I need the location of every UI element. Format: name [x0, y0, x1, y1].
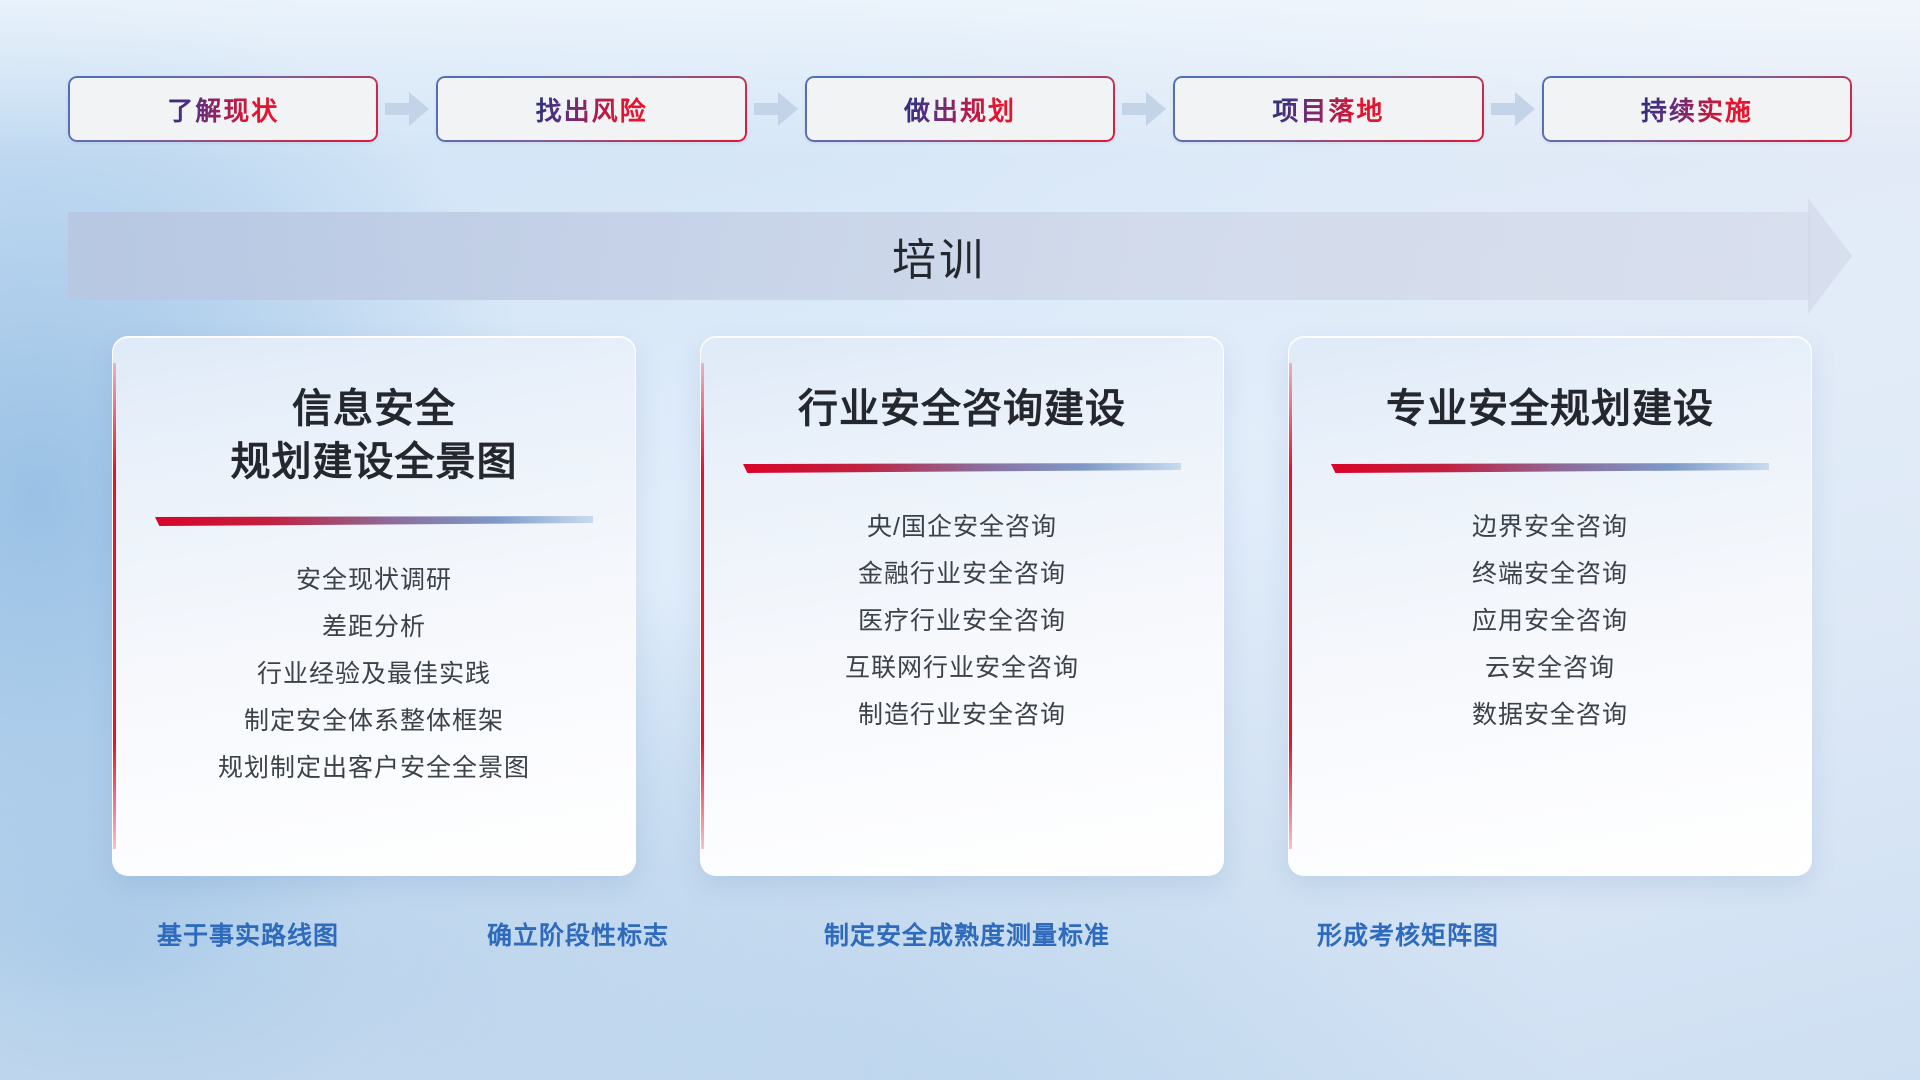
- step-label: 找出风险: [536, 91, 648, 128]
- card-item-list: 安全现状调研 差距分析 行业经验及最佳实践 制定安全体系整体框架 规划制定出客户…: [113, 557, 635, 792]
- arrow-right-icon: [1115, 89, 1173, 129]
- training-banner: 培训: [68, 212, 1852, 300]
- list-item: 数据安全咨询: [1289, 692, 1811, 739]
- footer-label-row: 基于事实路线图 确立阶段性标志 制定安全成熟度测量标准 形成考核矩阵图: [0, 916, 1920, 956]
- card-title-line-1: 专业安全规划建设: [1386, 383, 1714, 436]
- card-title: 专业安全规划建设: [1368, 383, 1732, 436]
- card-left-accent: [701, 363, 704, 849]
- card-left-accent: [1289, 363, 1292, 849]
- step-chip-1[interactable]: 了解现状: [68, 76, 378, 142]
- footer-label-matrix: 形成考核矩阵图: [1317, 916, 1499, 952]
- list-item: 终端安全咨询: [1289, 551, 1811, 598]
- banner-arrow-head-icon: [1808, 198, 1852, 314]
- card-row: 信息安全 规划建设全景图 安全现状调研 差距分析 行业经: [112, 336, 1812, 876]
- card-industry-security-consulting[interactable]: 行业安全咨询建设 央/国企安全咨询 金融行业安全咨询: [700, 336, 1224, 876]
- arrow-right-icon: [1484, 89, 1542, 129]
- list-item: 应用安全咨询: [1289, 598, 1811, 645]
- card-title-line-2: 规划建设全景图: [231, 436, 518, 489]
- list-item: 央/国企安全咨询: [701, 504, 1223, 551]
- step-chip-4[interactable]: 项目落地: [1173, 76, 1483, 142]
- process-step-row: 了解现状 找出风险 做出规划 项目落地 持续实施: [68, 76, 1852, 142]
- step-chip-2[interactable]: 找出风险: [436, 76, 746, 142]
- arrow-right-icon: [378, 89, 436, 129]
- step-chip-5[interactable]: 持续实施: [1542, 76, 1852, 142]
- list-item: 行业经验及最佳实践: [113, 651, 635, 698]
- list-item: 医疗行业安全咨询: [701, 598, 1223, 645]
- step-chip-3[interactable]: 做出规划: [805, 76, 1115, 142]
- list-item: 安全现状调研: [113, 557, 635, 604]
- card-divider: [1331, 462, 1769, 474]
- card-title-line-1: 行业安全咨询建设: [798, 383, 1126, 436]
- card-professional-security-planning[interactable]: 专业安全规划建设 边界安全咨询 终端安全咨询 应用安全: [1288, 336, 1812, 876]
- arrow-right-icon: [747, 89, 805, 129]
- list-item: 规划制定出客户安全全景图: [113, 745, 635, 792]
- card-divider: [155, 515, 593, 527]
- list-item: 金融行业安全咨询: [701, 551, 1223, 598]
- card-item-list: 边界安全咨询 终端安全咨询 应用安全咨询 云安全咨询 数据安全咨询: [1289, 504, 1811, 739]
- list-item: 云安全咨询: [1289, 645, 1811, 692]
- list-item: 制定安全体系整体框架: [113, 698, 635, 745]
- card-title: 行业安全咨询建设: [780, 383, 1144, 436]
- banner-title: 培训: [68, 212, 1810, 300]
- card-item-list: 央/国企安全咨询 金融行业安全咨询 医疗行业安全咨询 互联网行业安全咨询 制造行…: [701, 504, 1223, 739]
- list-item: 互联网行业安全咨询: [701, 645, 1223, 692]
- card-divider: [743, 462, 1181, 474]
- step-label: 了解现状: [167, 91, 279, 128]
- footer-label-milestone: 确立阶段性标志: [487, 916, 669, 952]
- list-item: 差距分析: [113, 604, 635, 651]
- card-title: 信息安全 规划建设全景图: [213, 383, 536, 489]
- step-label: 持续实施: [1641, 91, 1753, 128]
- footer-label-roadmap: 基于事实路线图: [157, 916, 339, 952]
- list-item: 制造行业安全咨询: [701, 692, 1223, 739]
- step-label: 项目落地: [1272, 91, 1384, 128]
- list-item: 边界安全咨询: [1289, 504, 1811, 551]
- step-label: 做出规划: [904, 91, 1016, 128]
- card-information-security-panorama[interactable]: 信息安全 规划建设全景图 安全现状调研 差距分析 行业经: [112, 336, 636, 876]
- footer-label-maturity: 制定安全成熟度测量标准: [824, 916, 1110, 952]
- card-left-accent: [113, 363, 116, 849]
- card-title-line-1: 信息安全: [231, 383, 518, 436]
